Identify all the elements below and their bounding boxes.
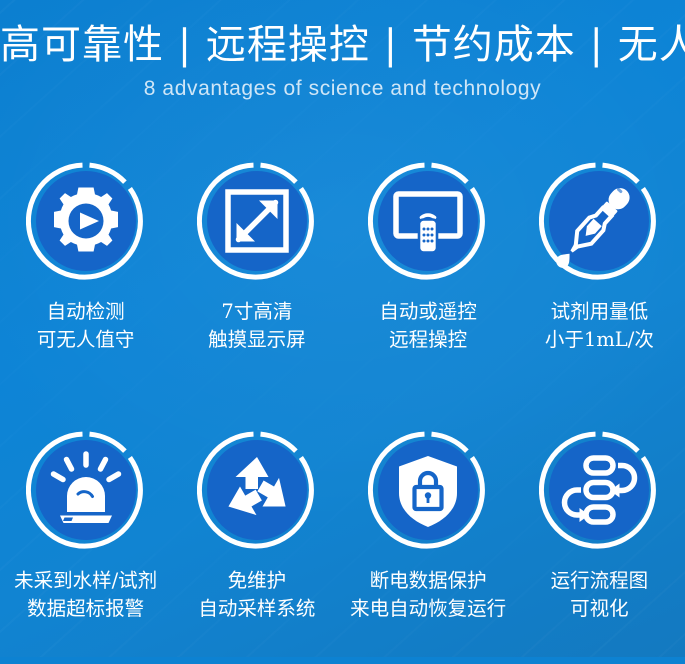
feature-label: 自动检测 可无人值守 [37,298,135,354]
feature-label: 7寸高清 触摸显示屏 [208,298,306,354]
feature-label-line2: 数据超标报警 [14,595,157,623]
feature-item-remote-control[interactable]: 自动或遥控 远程操控 [343,148,514,418]
feature-item-hd-touchscreen[interactable]: 7寸高清 触摸显示屏 [171,148,342,418]
feature-label-line1: 自动检测 [37,298,135,326]
feature-label-line1: 自动或遥控 [379,298,477,326]
header: 高可靠性 | 远程操控 | 节约成本 | 无人值守 8 advantages o… [0,0,685,104]
features-grid: 自动检测 可无人值守 [0,148,685,664]
feature-label-line2: 可无人值守 [37,326,135,354]
shield-lock-icon [368,430,488,550]
gear-play-icon [26,161,146,281]
feature-item-maintenance-free[interactable]: 免维护 自动采样系统 [171,418,342,664]
feature-label: 免维护 自动采样系统 [198,567,315,623]
feature-item-power-protection[interactable]: 断电数据保护 来电自动恢复运行 [343,418,514,664]
feature-label: 断电数据保护 来电自动恢复运行 [350,567,506,623]
feature-label-line1: 免维护 [198,567,315,595]
feature-item-auto-detection[interactable]: 自动检测 可无人值守 [0,148,171,418]
page-title: 高可靠性 | 远程操控 | 节约成本 | 无人值守 [0,18,685,72]
feature-label-line1: 断电数据保护 [350,567,506,595]
feature-label-line2: 来电自动恢复运行 [350,595,506,623]
dropper-pipette-icon [539,161,659,281]
feature-item-flowchart[interactable]: 运行流程图 可视化 [514,418,685,664]
feature-label: 自动或遥控 远程操控 [379,298,477,354]
recycle-icon [197,430,317,550]
flowchart-loop-icon [539,430,659,550]
feature-label: 运行流程图 可视化 [551,567,649,623]
feature-label-line2: 自动采样系统 [198,595,315,623]
feature-label: 试剂用量低 小于1mL/次 [545,298,654,354]
tv-remote-wifi-icon [368,161,488,281]
feature-label: 未采到水样/试剂 数据超标报警 [14,567,157,623]
alarm-siren-icon [26,430,146,550]
feature-label-line2: 远程操控 [379,326,477,354]
feature-item-alarm[interactable]: 未采到水样/试剂 数据超标报警 [0,418,171,664]
feature-item-low-reagent[interactable]: 试剂用量低 小于1mL/次 [514,148,685,418]
feature-label-line1: 未采到水样/试剂 [14,567,157,595]
page-subtitle: 8 advantages of science and technology [0,74,685,104]
feature-label-line1: 试剂用量低 [545,298,654,326]
feature-label-line1: 7寸高清 [208,298,306,326]
poster-page: 高可靠性 | 远程操控 | 节约成本 | 无人值守 8 advantages o… [0,0,685,657]
feature-label-line1: 运行流程图 [551,567,649,595]
feature-label-line2: 小于1mL/次 [545,326,654,354]
feature-label-line2: 触摸显示屏 [208,326,306,354]
expand-arrows-screen-icon [197,161,317,281]
feature-label-line2: 可视化 [551,595,649,623]
